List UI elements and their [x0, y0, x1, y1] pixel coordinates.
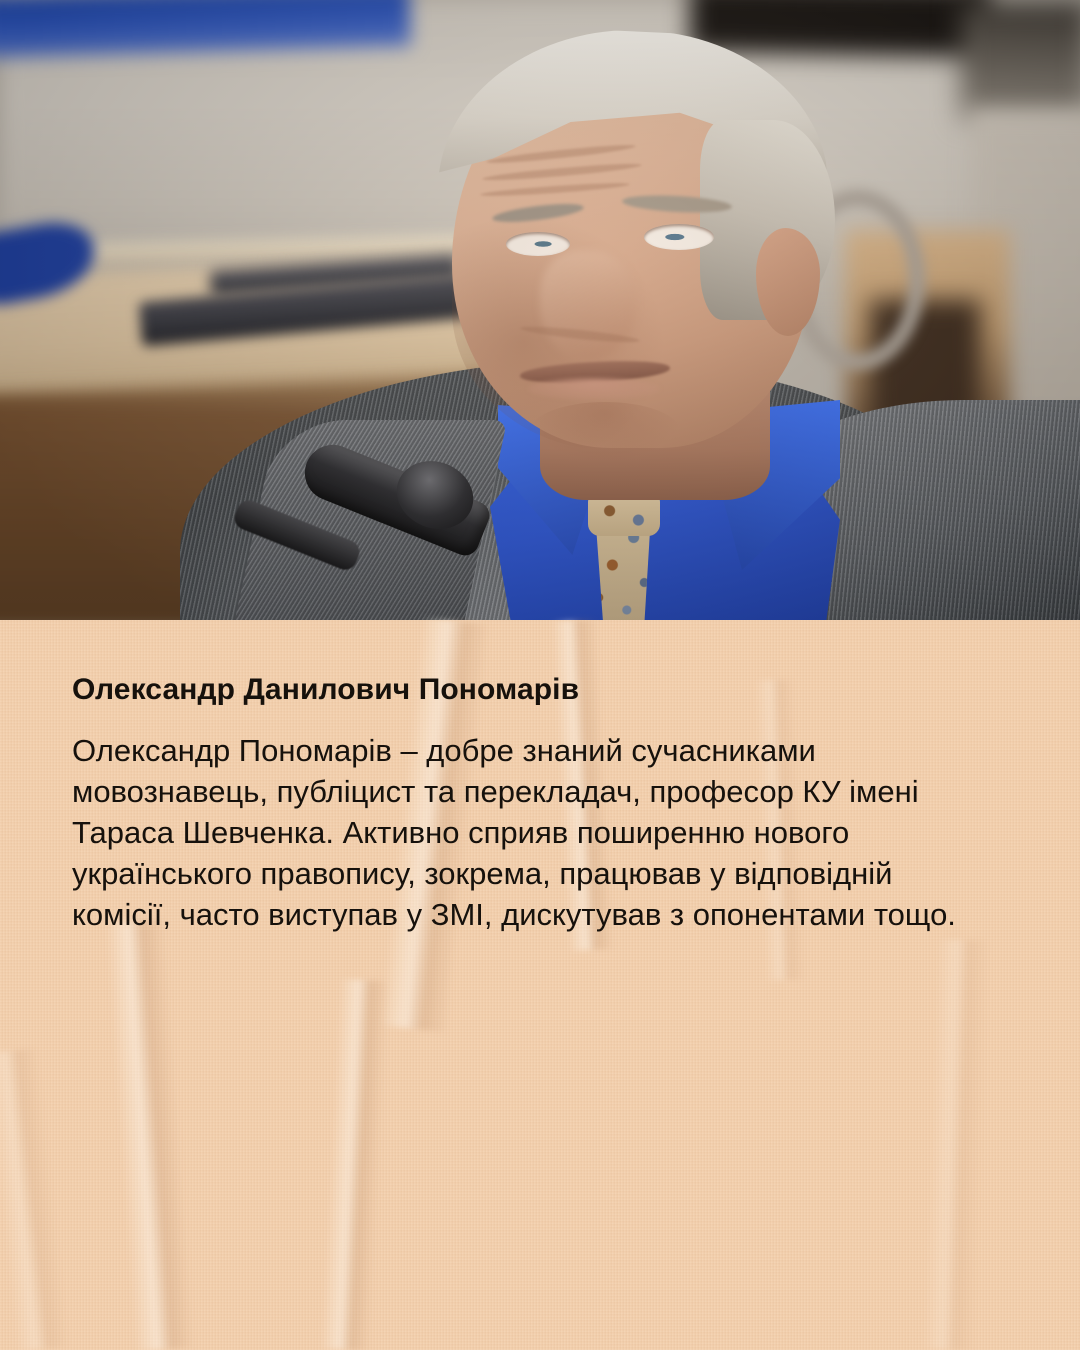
paper-crease: [320, 979, 389, 1350]
paper-crease: [923, 939, 989, 1350]
tie-knot: [588, 494, 660, 536]
text-panel: Олександр Данилович Пономарів Олександр …: [0, 620, 1080, 1350]
eye-right: [644, 224, 714, 250]
eye-left: [506, 232, 570, 256]
person-figure: [0, 0, 1080, 620]
nose: [540, 250, 636, 360]
biography-text: Олександр Пономарів – добре знаний сучас…: [72, 730, 997, 935]
portrait-photo: [0, 0, 1080, 620]
panel-content: Олександр Данилович Пономарів Олександр …: [72, 672, 1002, 935]
page-title: Олександр Данилович Пономарів: [72, 672, 1002, 708]
chin: [530, 402, 680, 460]
paper-crease: [0, 1048, 70, 1350]
paper-crease: [105, 918, 195, 1350]
lower-lip: [528, 378, 660, 400]
info-card: Олександр Данилович Пономарів Олександр …: [0, 0, 1080, 1350]
